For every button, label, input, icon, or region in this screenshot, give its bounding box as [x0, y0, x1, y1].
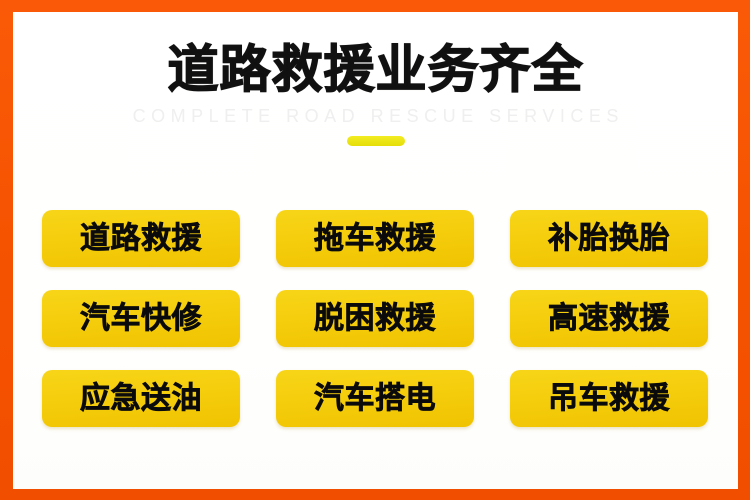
service-chip-label: 道路救援 [80, 223, 202, 255]
service-chip-label: 高速救援 [548, 303, 670, 335]
service-chip-label: 汽车快修 [80, 303, 202, 335]
service-chip-label: 补胎换胎 [548, 223, 670, 255]
page-subtitle: COMPLETE ROAD RESCUE SERVICES [13, 105, 738, 127]
service-chip-emergency-fuel[interactable]: 应急送油 [42, 370, 240, 427]
service-chip-road-rescue[interactable]: 道路救援 [42, 210, 240, 267]
poster-frame: 道路救援业务齐全 COMPLETE ROAD RESCUE SERVICES 道… [0, 0, 750, 500]
service-chip-jump-start[interactable]: 汽车搭电 [276, 370, 474, 427]
page-title: 道路救援业务齐全 [13, 12, 738, 98]
poster-canvas: 道路救援业务齐全 COMPLETE ROAD RESCUE SERVICES 道… [13, 12, 738, 489]
service-chip-extraction-rescue[interactable]: 脱困救援 [276, 290, 474, 347]
service-chip-tire-repair[interactable]: 补胎换胎 [510, 210, 708, 267]
header-block: 道路救援业务齐全 COMPLETE ROAD RESCUE SERVICES [13, 12, 738, 146]
service-chip-quick-repair[interactable]: 汽车快修 [42, 290, 240, 347]
service-chip-label: 拖车救援 [314, 223, 436, 255]
service-chip-tow-rescue[interactable]: 拖车救援 [276, 210, 474, 267]
service-chip-label: 脱困救援 [314, 303, 436, 335]
service-chip-highway-rescue[interactable]: 高速救援 [510, 290, 708, 347]
service-chip-label: 吊车救援 [548, 383, 670, 415]
accent-divider [347, 136, 405, 146]
service-chip-label: 汽车搭电 [314, 383, 436, 415]
service-grid: 道路救援 拖车救援 补胎换胎 汽车快修 脱困救援 高速救援 应急送油 汽车搭电 [42, 210, 723, 427]
service-chip-label: 应急送油 [80, 383, 202, 415]
service-chip-crane-rescue[interactable]: 吊车救援 [510, 370, 708, 427]
